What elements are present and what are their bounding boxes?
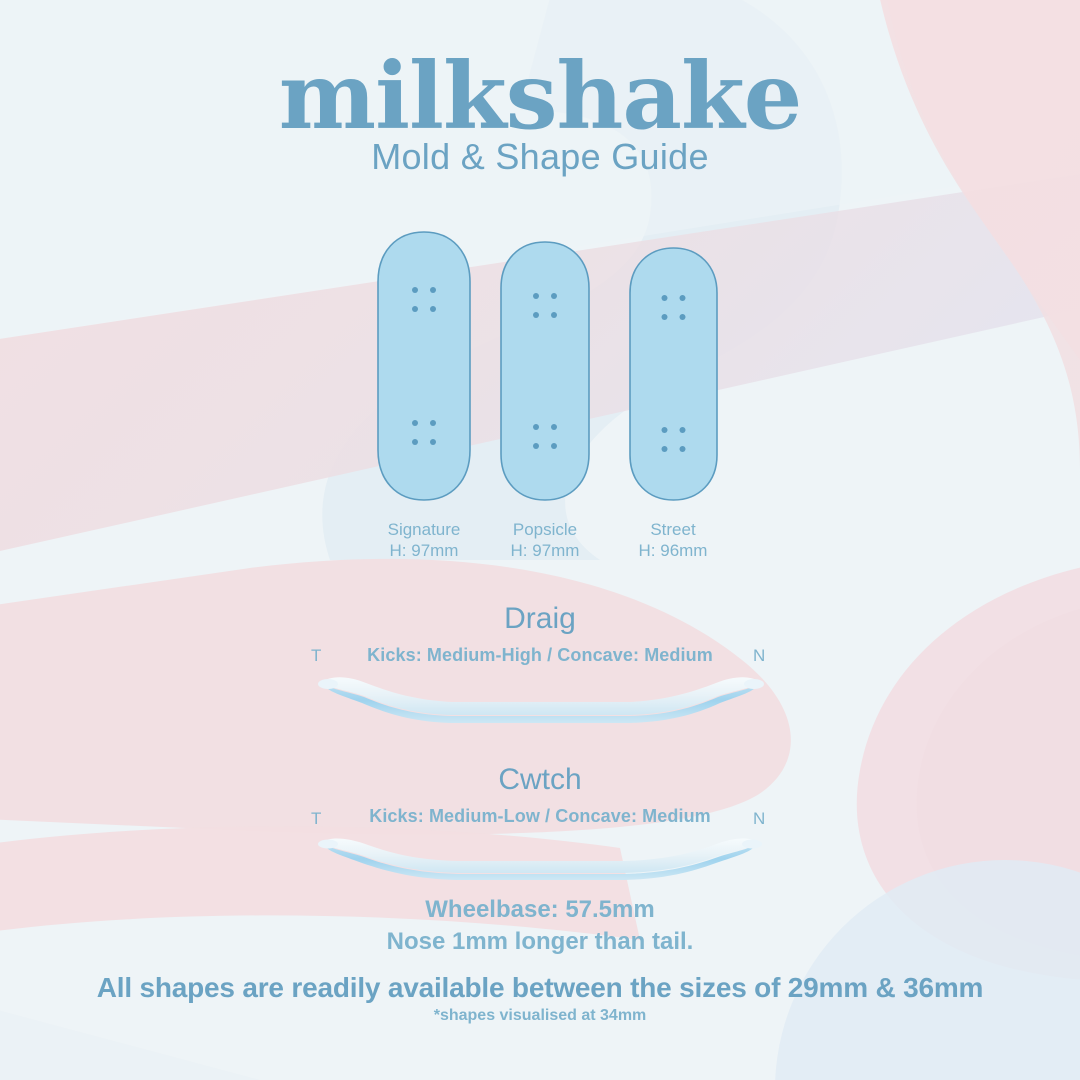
mold-section-cwtch: Cwtch Kicks: Medium-Low / Concave: Mediu… <box>0 765 1080 827</box>
mold-profile-cwtch[interactable] <box>312 826 768 882</box>
deck-shape-popsicle[interactable] <box>499 240 591 502</box>
nose-length-note: Nose 1mm longer than tail. <box>0 928 1080 956</box>
deck-shapes-row: Signature H: 97mm Popsicle H: 97mm <box>0 228 1080 518</box>
page-title: milkshake <box>0 50 1080 142</box>
poster-canvas: milkshake Mold & Shape Guide Signature <box>0 0 1080 1080</box>
deck-shape-signature[interactable] <box>376 230 472 502</box>
mold-name-cwtch: Cwtch <box>0 765 1080 795</box>
page-subtitle: Mold & Shape Guide <box>0 136 1080 178</box>
visualised-note: *shapes visualised at 34mm <box>0 1007 1080 1025</box>
mold-profile-draig[interactable] <box>312 662 768 728</box>
deck-name-street: Street <box>597 520 749 541</box>
deck-height-street: H: 96mm <box>597 541 749 562</box>
mold-section-draig: Draig Kicks: Medium-High / Concave: Medi… <box>0 604 1080 666</box>
mold-specs-cwtch: Kicks: Medium-Low / Concave: Medium <box>0 806 1080 827</box>
deck-outline-icon <box>628 246 719 502</box>
deck-profile-icon <box>312 826 768 882</box>
mold-name-draig: Draig <box>0 604 1080 634</box>
deck-profile-icon <box>312 662 768 728</box>
availability-note: All shapes are readily available between… <box>0 972 1080 1004</box>
wheelbase-note: Wheelbase: 57.5mm <box>0 896 1080 924</box>
deck-shape-street[interactable] <box>628 246 719 502</box>
deck-caption-street: Street H: 96mm <box>597 520 749 561</box>
deck-outline-icon <box>499 240 591 502</box>
deck-outline-icon <box>376 230 472 502</box>
